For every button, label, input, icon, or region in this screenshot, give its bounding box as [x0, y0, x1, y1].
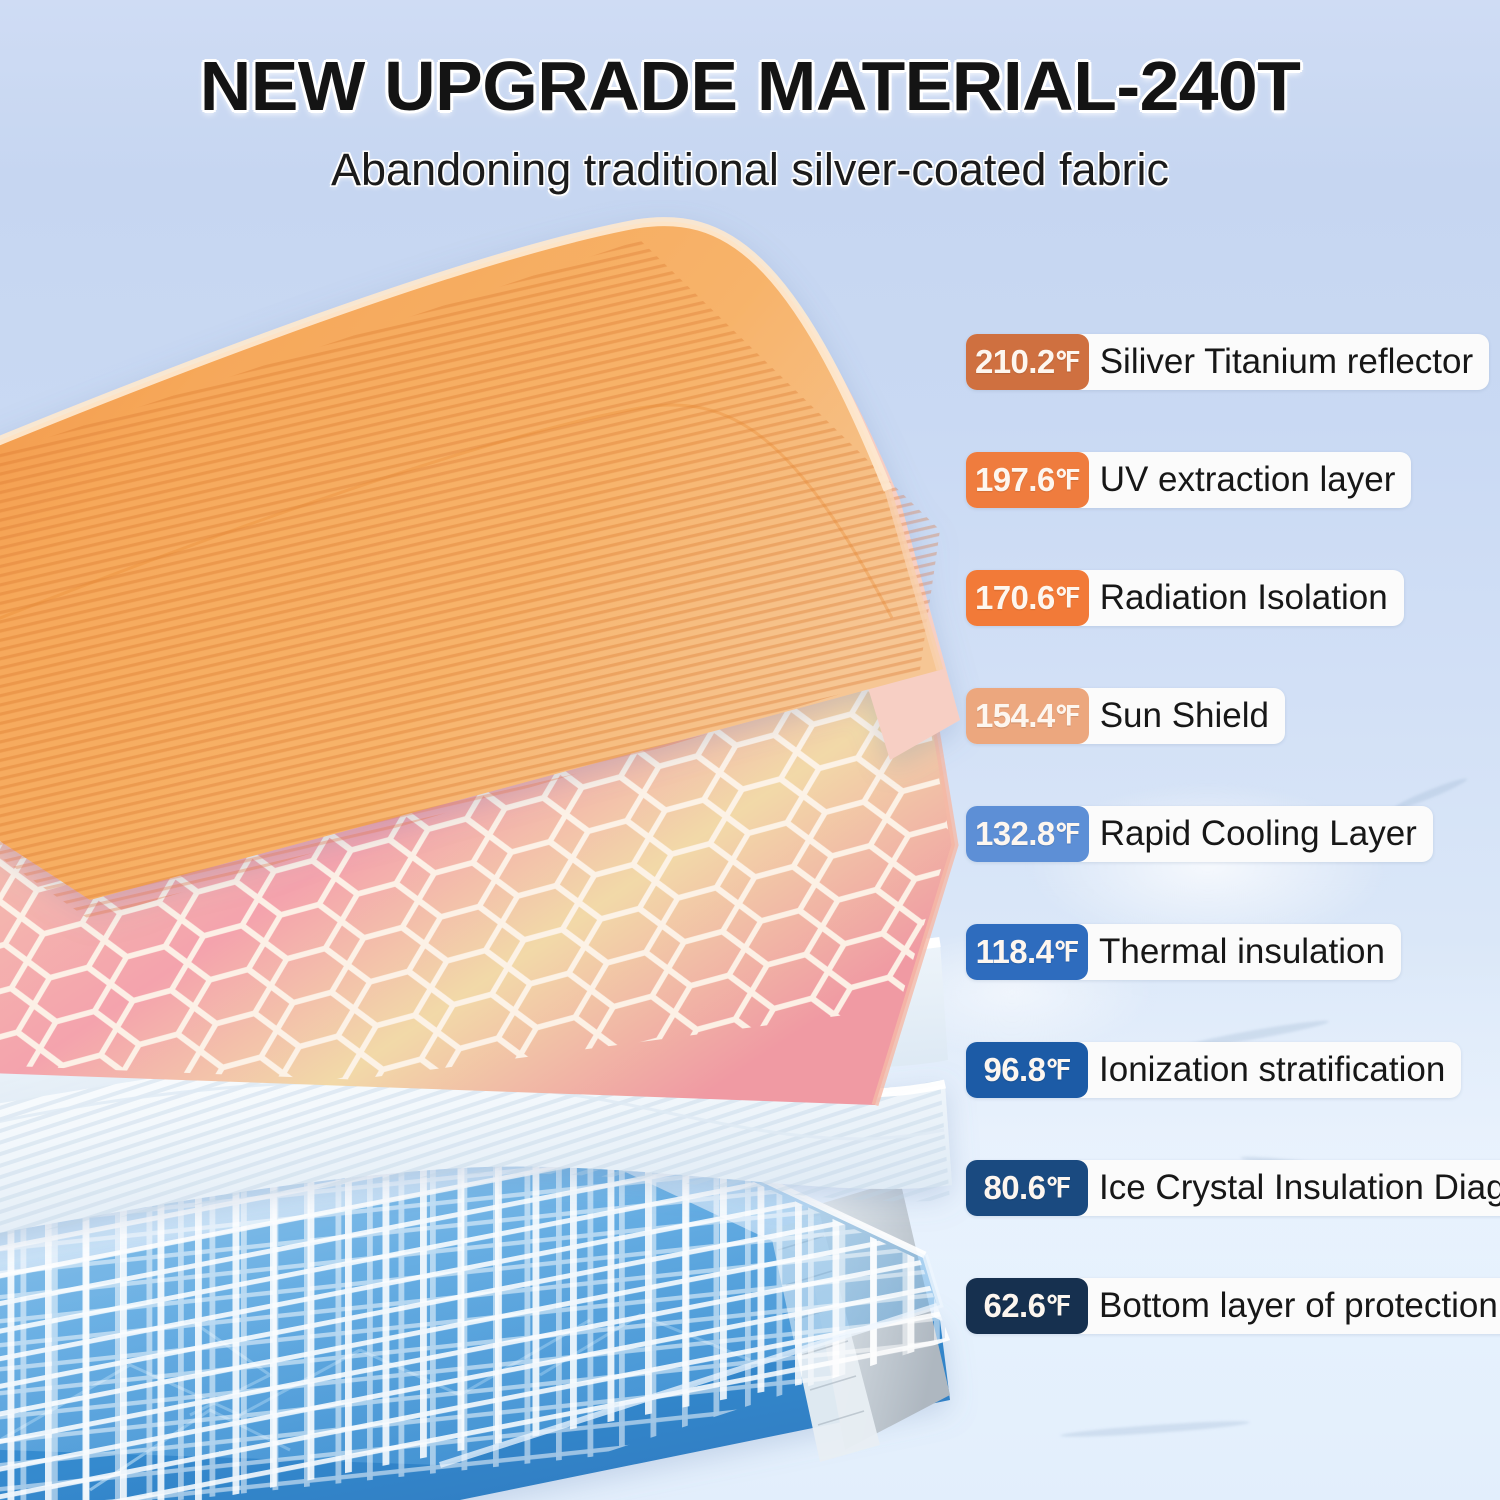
layer-label: Thermal insulation	[1088, 924, 1401, 980]
temperature-badge: 197.6℉	[966, 452, 1089, 508]
temperature-badge: 118.4℉	[966, 924, 1088, 980]
legend-row: 118.4℉Thermal insulation	[966, 924, 1401, 980]
temperature-unit: ℉	[1045, 1055, 1070, 1086]
temperature-unit: ℉	[1055, 583, 1080, 614]
layer-label: Ice Crystal Insulation Diagram	[1088, 1160, 1500, 1216]
legend-row: 210.2℉Siliver Titanium reflector	[966, 334, 1489, 390]
temperature-value: 132.8	[975, 815, 1055, 853]
temperature-value: 118.4	[976, 933, 1054, 971]
temperature-unit: ℉	[1055, 465, 1080, 496]
page-title: NEW UPGRADE MATERIAL-240T	[0, 46, 1500, 126]
layer-label: Rapid Cooling Layer	[1089, 806, 1433, 862]
temperature-value: 62.6	[984, 1287, 1046, 1325]
layer-label: Ionization stratification	[1088, 1042, 1461, 1098]
temperature-badge: 62.6℉	[966, 1278, 1088, 1334]
layer-label: UV extraction layer	[1089, 452, 1412, 508]
layer-label: Bottom layer of protection	[1088, 1278, 1500, 1334]
layer-label: Sun Shield	[1089, 688, 1285, 744]
temperature-unit: ℉	[1055, 701, 1080, 732]
temperature-value: 80.6	[984, 1169, 1046, 1207]
page-subtitle: Abandoning traditional silver-coated fab…	[0, 144, 1500, 196]
temperature-badge: 210.2℉	[966, 334, 1089, 390]
legend-row: 154.4℉Sun Shield	[966, 688, 1285, 744]
temperature-unit: ℉	[1045, 1291, 1070, 1322]
legend-row: 132.8℉Rapid Cooling Layer	[966, 806, 1433, 862]
temperature-unit: ℉	[1055, 347, 1080, 378]
temperature-badge: 170.6℉	[966, 570, 1089, 626]
legend-row: 170.6℉Radiation Isolation	[966, 570, 1404, 626]
temperature-badge: 154.4℉	[966, 688, 1089, 744]
temperature-badge: 132.8℉	[966, 806, 1089, 862]
legend-row: 197.6℉UV extraction layer	[966, 452, 1411, 508]
temperature-value: 96.8	[984, 1051, 1046, 1089]
header-block: NEW UPGRADE MATERIAL-240T Abandoning tra…	[0, 46, 1500, 196]
legend-row: 62.6℉Bottom layer of protection	[966, 1278, 1500, 1334]
layer-label: Radiation Isolation	[1089, 570, 1404, 626]
legend-row: 96.8℉Ionization stratification	[966, 1042, 1461, 1098]
fabric-layer-illustration	[0, 200, 980, 1500]
legend-row: 80.6℉Ice Crystal Insulation Diagram	[966, 1160, 1500, 1216]
temperature-value: 197.6	[975, 461, 1055, 499]
layer-label: Siliver Titanium reflector	[1089, 334, 1489, 390]
temperature-value: 154.4	[975, 697, 1055, 735]
temperature-value: 170.6	[975, 579, 1055, 617]
temperature-legend-list: 210.2℉Siliver Titanium reflector197.6℉UV…	[966, 334, 1500, 1334]
temperature-badge: 80.6℉	[966, 1160, 1088, 1216]
temperature-unit: ℉	[1055, 819, 1080, 850]
snow-streak-3	[1060, 1418, 1250, 1439]
temperature-value: 210.2	[975, 343, 1055, 381]
temperature-unit: ℉	[1045, 1173, 1070, 1204]
temperature-unit: ℉	[1053, 937, 1078, 968]
temperature-badge: 96.8℉	[966, 1042, 1088, 1098]
infographic-canvas: NEW UPGRADE MATERIAL-240T Abandoning tra…	[0, 0, 1500, 1500]
